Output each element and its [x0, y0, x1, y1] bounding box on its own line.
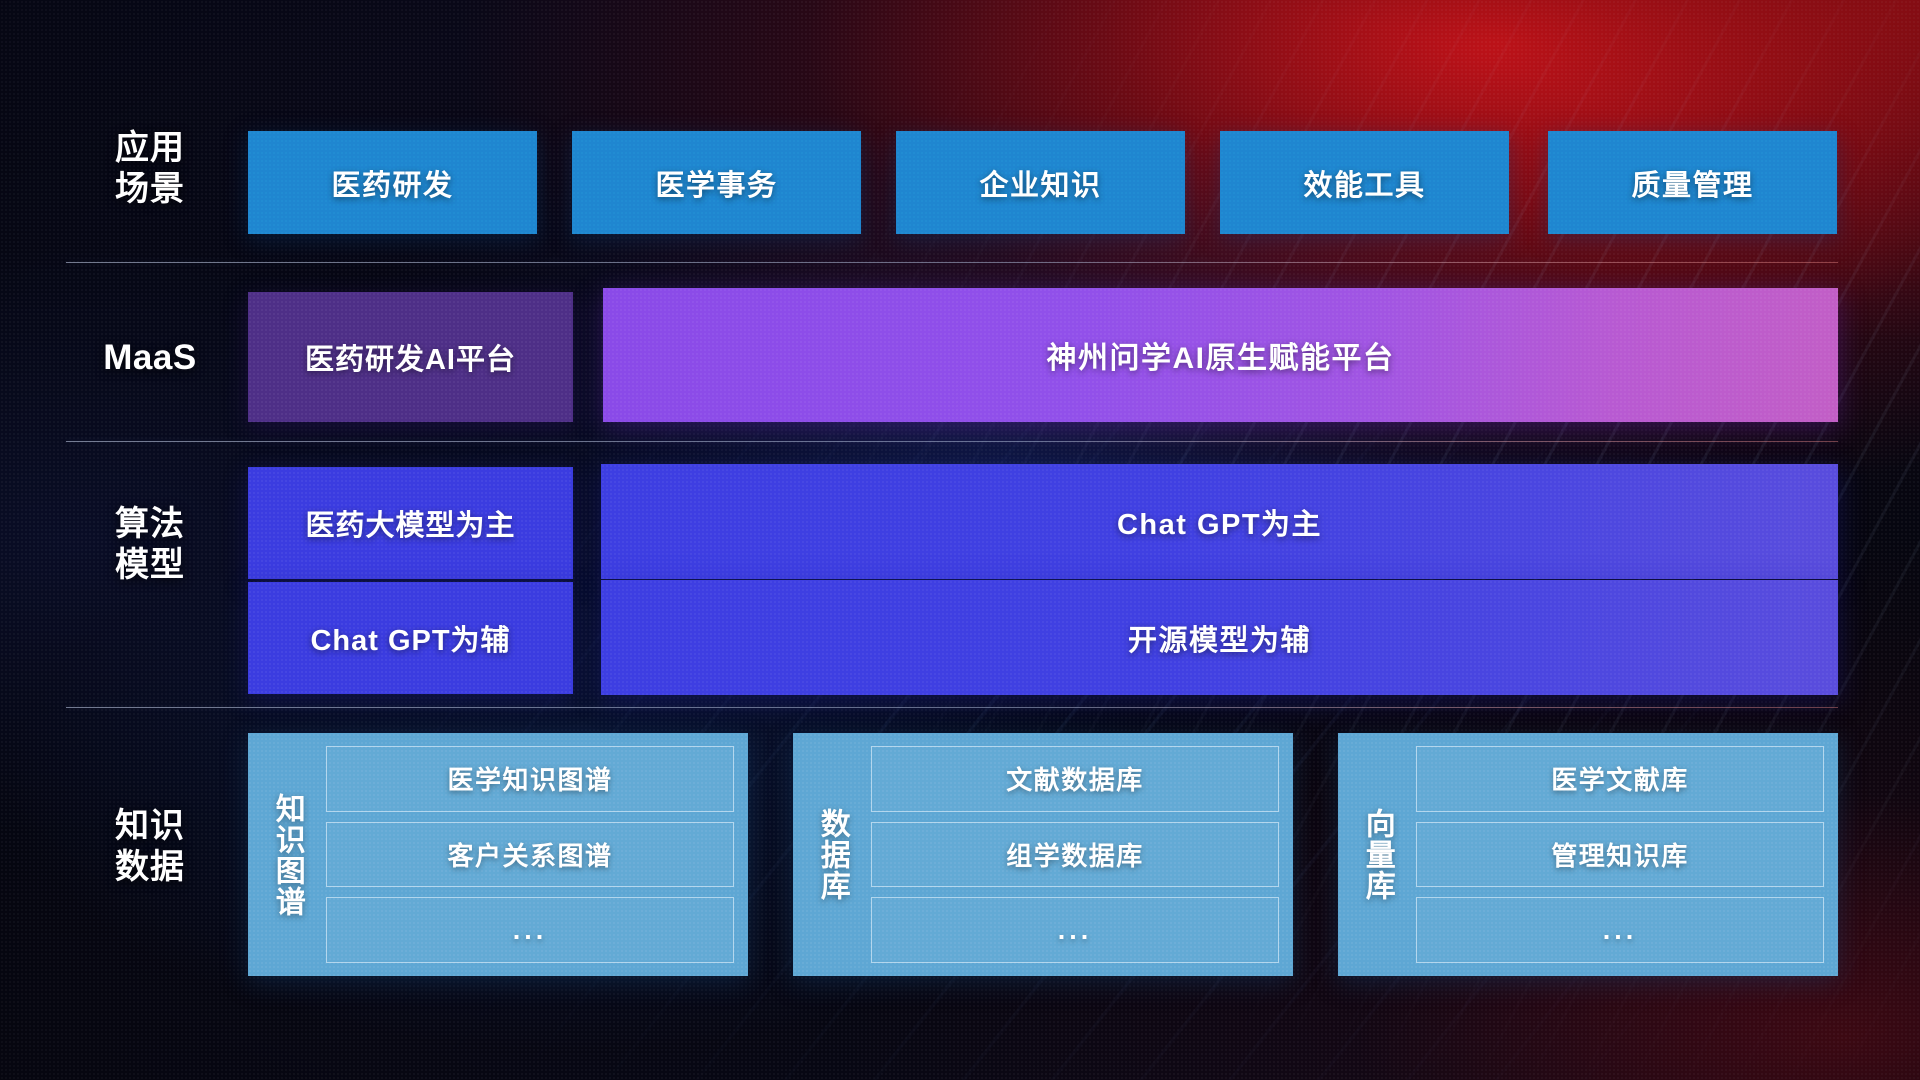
knowledge-item-customer-relation-graph[interactable]: 客户关系图谱	[326, 822, 734, 888]
knowledge-group-vector-store[interactable]: 向量库 医学文献库 管理知识库 ...	[1338, 733, 1838, 976]
knowledge-group-items: 医学文献库 管理知识库 ...	[1416, 746, 1824, 963]
row-label-application: 应用 场景	[66, 128, 234, 211]
algo-card-chatgpt-primary[interactable]: Chat GPT为主	[601, 464, 1838, 579]
knowledge-item-medical-knowledge-graph[interactable]: 医学知识图谱	[326, 746, 734, 812]
app-card-quality-management[interactable]: 质量管理	[1548, 131, 1837, 234]
knowledge-group-items: 医学知识图谱 客户关系图谱 ...	[326, 746, 734, 963]
row-label-knowledge: 知识 数据	[66, 806, 234, 889]
knowledge-item-more[interactable]: ...	[326, 897, 734, 963]
knowledge-item-more[interactable]: ...	[871, 897, 1279, 963]
divider-algorithm-knowledge	[66, 707, 1838, 708]
knowledge-item-omics-database[interactable]: 组学数据库	[871, 822, 1279, 888]
knowledge-group-knowledge-graph[interactable]: 知识图谱 医学知识图谱 客户关系图谱 ...	[248, 733, 748, 976]
slide-canvas: 应用 场景 医药研发 医学事务 企业知识 效能工具 质量管理 MaaS 医药研发…	[0, 0, 1920, 1080]
app-card-medicine-rd[interactable]: 医药研发	[248, 131, 537, 234]
knowledge-item-management-knowledge-store[interactable]: 管理知识库	[1416, 822, 1824, 888]
row-label-maas: MaaS	[66, 337, 234, 380]
app-card-medical-affairs[interactable]: 医学事务	[572, 131, 861, 234]
knowledge-item-literature-database[interactable]: 文献数据库	[871, 746, 1279, 812]
app-card-efficiency-tools[interactable]: 效能工具	[1220, 131, 1509, 234]
knowledge-group-title-vector-store: 向量库	[1338, 746, 1416, 963]
knowledge-group-database[interactable]: 数据库 文献数据库 组学数据库 ...	[793, 733, 1293, 976]
knowledge-group-items: 文献数据库 组学数据库 ...	[871, 746, 1279, 963]
knowledge-group-title-database: 数据库	[793, 746, 871, 963]
knowledge-item-more[interactable]: ...	[1416, 897, 1824, 963]
divider-application-maas	[66, 262, 1838, 263]
algo-card-chatgpt-secondary[interactable]: Chat GPT为辅	[248, 582, 573, 694]
row-label-algorithm: 算法 模型	[66, 504, 234, 587]
knowledge-item-medical-literature-store[interactable]: 医学文献库	[1416, 746, 1824, 812]
knowledge-group-title-knowledge-graph: 知识图谱	[248, 746, 326, 963]
divider-maas-algorithm	[66, 441, 1838, 442]
app-card-enterprise-knowledge[interactable]: 企业知识	[896, 131, 1185, 234]
algo-card-opensource-secondary[interactable]: 开源模型为辅	[601, 580, 1838, 695]
maas-card-shenzhou-wenxue-platform[interactable]: 神州问学AI原生赋能平台	[603, 288, 1838, 422]
architecture-diagram: 应用 场景 医药研发 医学事务 企业知识 效能工具 质量管理 MaaS 医药研发…	[0, 0, 1920, 1080]
algo-card-medicine-llm-primary[interactable]: 医药大模型为主	[248, 467, 573, 579]
maas-card-medicine-ai-platform[interactable]: 医药研发AI平台	[248, 292, 573, 422]
